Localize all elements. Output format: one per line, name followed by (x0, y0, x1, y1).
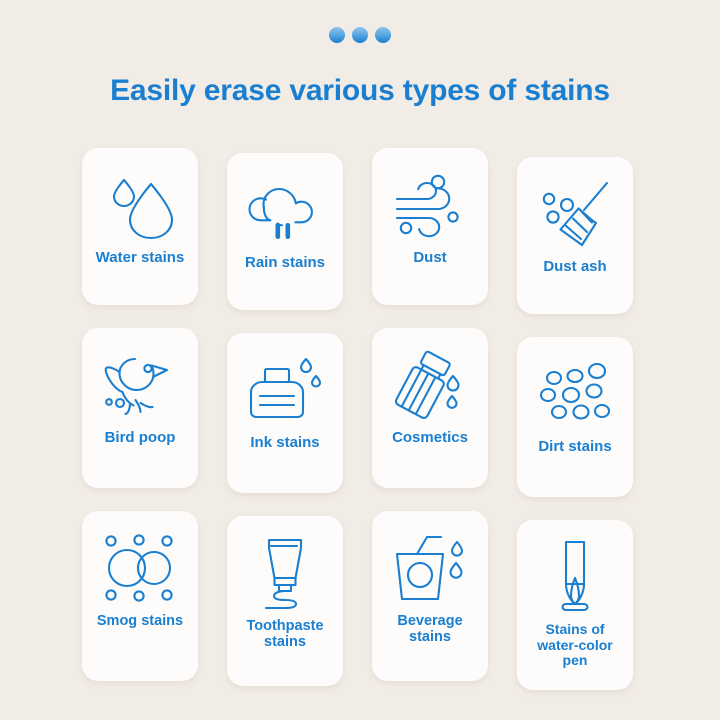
stain-card-rain-stains[interactable]: Rain stains (227, 153, 343, 310)
stain-card-dirt-stains[interactable]: Dirt stains (517, 337, 633, 497)
stain-card-bird-poop[interactable]: Bird poop (82, 328, 198, 488)
wind-dust-icon (387, 164, 473, 246)
stain-card-label: Cosmetics (388, 430, 472, 447)
toothpaste-tube-icon (242, 532, 328, 614)
stain-card-dust-ash[interactable]: Dust ash (517, 157, 633, 314)
cosmetics-bottle-icon (387, 344, 473, 426)
water-color-pen-icon (532, 536, 618, 618)
rain-cloud-icon (242, 169, 328, 251)
stain-card-label: Dirt stains (534, 439, 615, 456)
ink-bottle-icon (242, 349, 328, 431)
stain-card-label: Toothpaste stains (242, 618, 327, 650)
dot-3-icon (375, 27, 391, 43)
stain-card-dust[interactable]: Dust (372, 148, 488, 305)
stain-card-water-color-pen[interactable]: Stains of water-color pen (517, 520, 633, 690)
stain-card-label: Beverage stains (393, 613, 466, 645)
stain-card-label: Dust (409, 250, 450, 267)
stain-card-label: Stains of water-color pen (533, 622, 616, 669)
stain-card-beverage-stains[interactable]: Beverage stains (372, 511, 488, 681)
dot-2-icon (352, 27, 368, 43)
stain-card-cosmetics[interactable]: Cosmetics (372, 328, 488, 488)
stain-card-smog-stains[interactable]: Smog stains (82, 511, 198, 681)
stain-card-label: Bird poop (101, 430, 180, 447)
smog-circles-icon (97, 527, 183, 609)
stain-card-toothpaste-stains[interactable]: Toothpaste stains (227, 516, 343, 686)
stain-card-label: Water stains (92, 250, 189, 267)
stain-card-label: Rain stains (241, 255, 329, 272)
stain-types-page: Easily erase various types of stains Wat… (0, 0, 720, 720)
stain-card-label: Ink stains (246, 435, 323, 452)
beverage-cup-icon (387, 527, 473, 609)
bird-icon (97, 344, 183, 426)
stain-card-grid: Water stains Rain stains (82, 148, 638, 690)
page-title: Easily erase various types of stains (0, 74, 720, 108)
dot-1-icon (329, 27, 345, 43)
dirt-specks-icon (532, 353, 618, 435)
stain-card-label: Dust ash (539, 259, 610, 276)
stain-card-ink-stains[interactable]: Ink stains (227, 333, 343, 493)
broom-dust-ash-icon (532, 173, 618, 255)
decorative-dots (0, 27, 720, 43)
stain-card-label: Smog stains (93, 613, 187, 629)
stain-card-water-stains[interactable]: Water stains (82, 148, 198, 305)
water-drops-icon (97, 164, 183, 246)
